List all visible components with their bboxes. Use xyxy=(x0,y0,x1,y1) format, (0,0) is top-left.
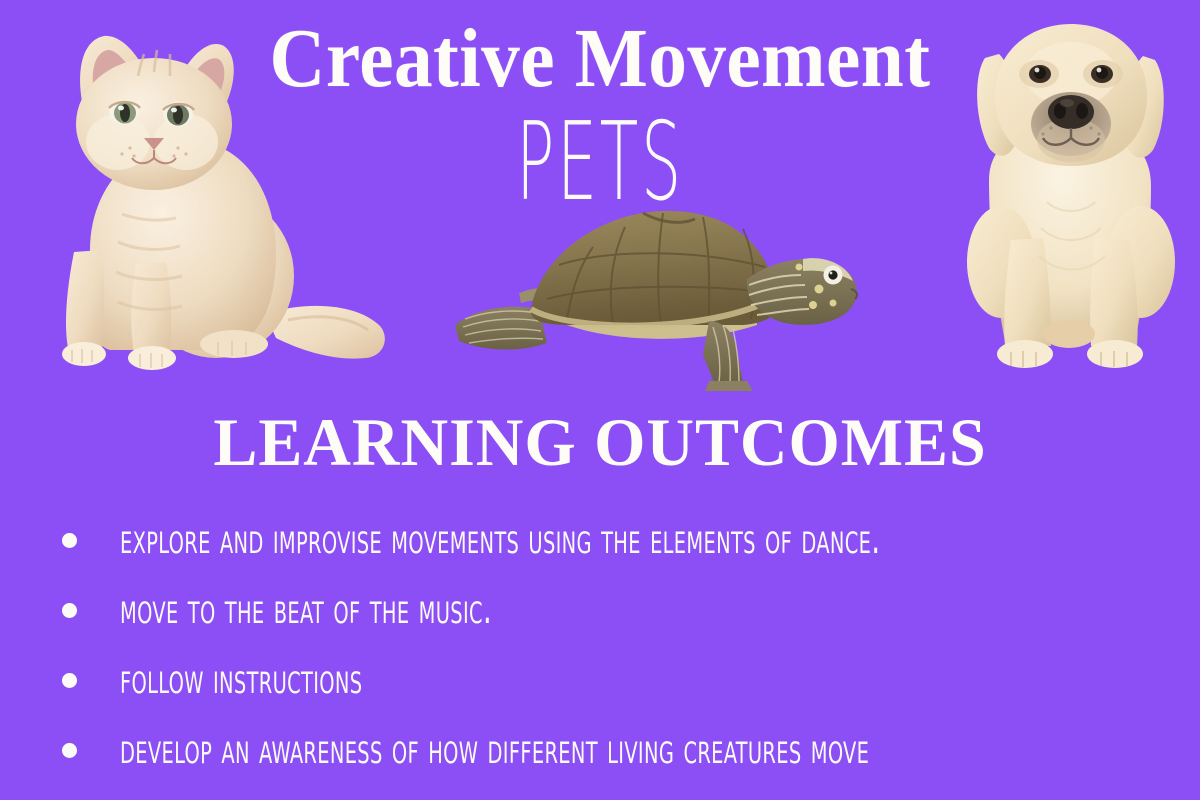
page-subtitle: PETS xyxy=(204,104,996,220)
list-item-label: Move to the beat of the music. xyxy=(120,587,492,633)
learning-outcomes-heading: LEARNING OUTCOMES xyxy=(18,404,1182,480)
bullet-icon xyxy=(62,673,77,688)
poster-canvas: Creative Movement PETS LEARNING OUTCOMES… xyxy=(0,0,1200,800)
list-item-label: Explore and improvise movements using th… xyxy=(120,517,880,563)
bullet-icon xyxy=(62,533,77,548)
list-item: Develop an awareness of how different li… xyxy=(62,715,1182,785)
list-item-label: Develop an awareness of how different li… xyxy=(120,727,869,773)
list-item: Move to the beat of the music. xyxy=(62,575,1182,645)
bullet-icon xyxy=(62,603,77,618)
bullet-icon xyxy=(62,743,77,758)
list-item: Follow instructions xyxy=(62,645,1182,715)
list-item: Explore and improvise movements using th… xyxy=(62,505,1182,575)
learning-outcomes-list: Explore and improvise movements using th… xyxy=(62,505,1182,785)
list-item-label: Follow instructions xyxy=(120,657,362,703)
page-title: Creative Movement xyxy=(48,14,1152,104)
